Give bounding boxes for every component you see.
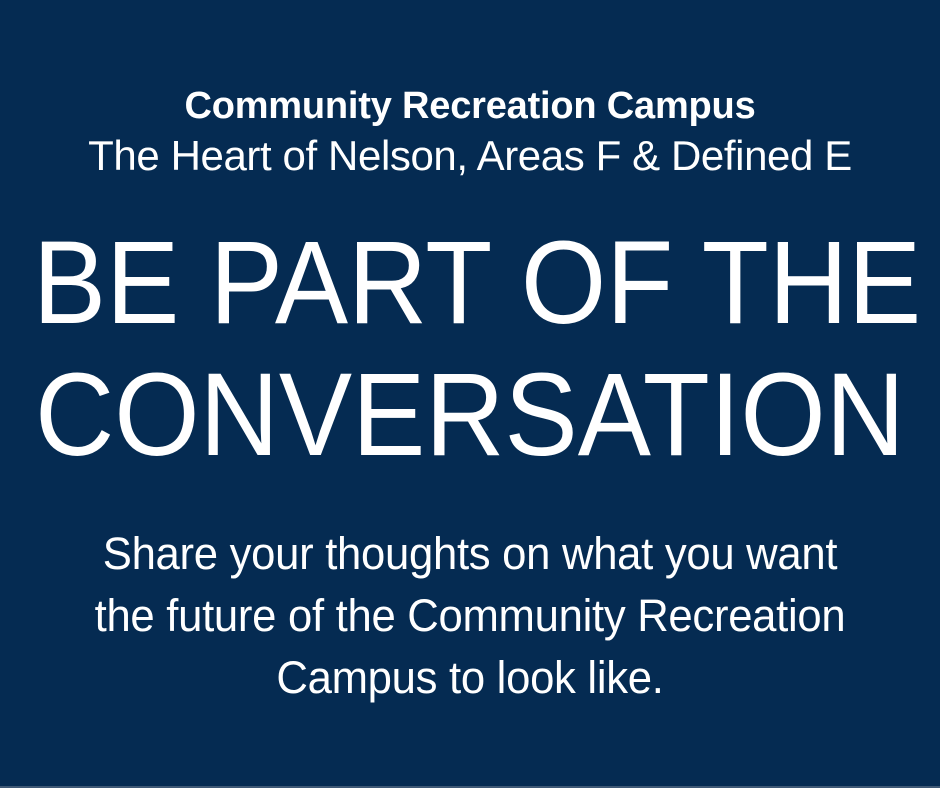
body-line-3: Campus to look like. — [72, 647, 867, 709]
organisation-title: Community Recreation Campus — [0, 86, 940, 127]
poster: Community Recreation Campus The Heart of… — [0, 0, 940, 788]
organisation-subtitle: The Heart of Nelson, Areas F & Defined E — [0, 131, 940, 181]
poster-content: Community Recreation Campus The Heart of… — [0, 0, 940, 788]
headline-line-1: BE PART OF THE — [33, 217, 907, 349]
eyebrow-block: Community Recreation Campus The Heart of… — [0, 86, 940, 181]
headline-block: BE PART OF THE CONVERSATION — [0, 217, 940, 481]
body-line-2: the future of the Community Recreation — [72, 585, 867, 647]
headline-line-2: CONVERSATION — [33, 349, 907, 481]
body-line-1: Share your thoughts on what you want — [72, 523, 867, 585]
body-block: Share your thoughts on what you want the… — [60, 523, 880, 709]
